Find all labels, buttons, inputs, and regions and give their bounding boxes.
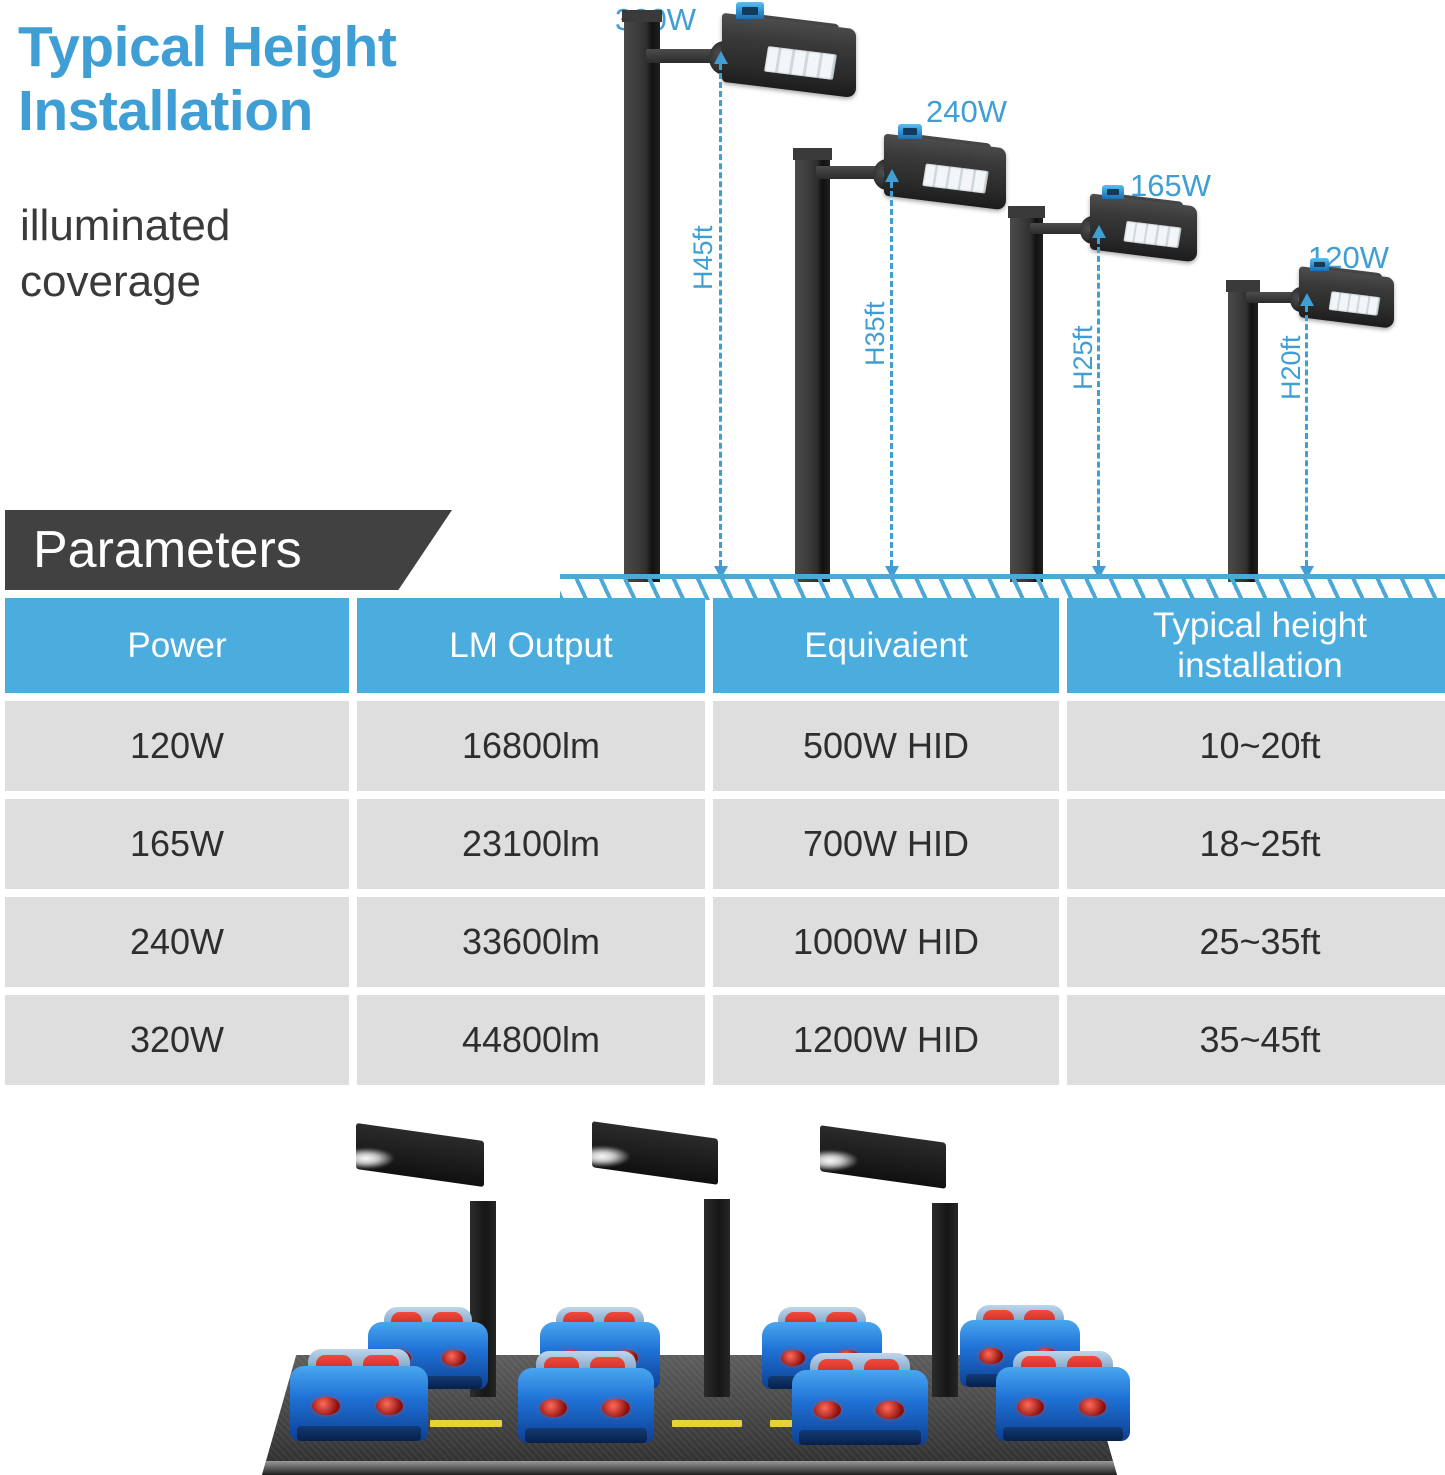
car-bumper [799, 1430, 921, 1445]
column-header-lm-output: LM Output [357, 598, 705, 693]
car-taillight [602, 1399, 629, 1417]
car-taillight [876, 1401, 903, 1419]
pole-240w [795, 154, 830, 582]
cell-equivaient: 500W HID [713, 701, 1059, 791]
cell-typical-height: 25~35ft [1067, 897, 1445, 987]
luminaire-120w [1246, 268, 1394, 332]
luminaire-320w [646, 16, 856, 102]
photocell-sensor-icon [736, 2, 763, 19]
cell-equivaient: 1000W HID [713, 897, 1059, 987]
car-taillight [312, 1397, 340, 1415]
infographic-page: Typical Height Installation illuminated … [0, 0, 1445, 1475]
car-taillight [1079, 1398, 1106, 1416]
ground-hatching [560, 579, 1445, 600]
column-header-typical-height-installation: Typical height installation [1067, 598, 1445, 693]
cell-power: 240W [5, 897, 349, 987]
cell-equivaient: 1200W HID [713, 995, 1059, 1085]
cell-power: 120W [5, 701, 349, 791]
lot-pole-3 [932, 1203, 958, 1397]
parking-stripe [672, 1420, 742, 1427]
parking-lot-scene [0, 1120, 1445, 1475]
subtitle-line-1: illuminated [20, 198, 440, 254]
car-bumper [525, 1428, 647, 1443]
pole-shaft [1010, 212, 1043, 582]
measure-line-h35ft [890, 182, 893, 566]
cell-lm-output: 16800lm [357, 701, 705, 791]
lot-luminaire-3 [820, 1134, 946, 1180]
photocell-sensor-icon [1102, 185, 1124, 199]
cell-equivaient: 700W HID [713, 799, 1059, 889]
luminaire-165w [1030, 196, 1197, 266]
parameters-banner: Parameters [5, 510, 452, 590]
page-title: Typical Height Installation [18, 16, 618, 144]
measure-line-h25ft [1097, 238, 1100, 566]
pole-shaft [795, 154, 830, 582]
cell-typical-height: 35~45ft [1067, 995, 1445, 1085]
pole-165w [1010, 212, 1043, 582]
table-row: 165W 23100lm 700W HID 18~25ft [5, 799, 1437, 889]
cell-lm-output: 44800lm [357, 995, 705, 1085]
car [996, 1351, 1130, 1441]
subtitle-line-2: coverage [20, 254, 440, 310]
cell-power: 320W [5, 995, 349, 1085]
height-label-h20ft: H20ft [1276, 335, 1307, 400]
light-glow [338, 1148, 394, 1169]
parameters-table: Power LM Output Equivaient Typical heigh… [5, 598, 1437, 1093]
cell-typical-height: 18~25ft [1067, 799, 1445, 889]
height-label-h35ft: H35ft [860, 301, 891, 366]
parameters-banner-label: Parameters [33, 520, 302, 580]
cell-lm-output: 23100lm [357, 799, 705, 889]
lot-luminaire-1 [356, 1132, 484, 1178]
watt-label-240w: 240W [926, 94, 1007, 130]
height-label-h25ft: H25ft [1068, 325, 1099, 390]
ground-line [560, 574, 1445, 600]
table-row: 120W 16800lm 500W HID 10~20ft [5, 701, 1437, 791]
column-header-power: Power [5, 598, 349, 693]
column-header-equivaient: Equivaient [713, 598, 1059, 693]
cell-typical-height: 10~20ft [1067, 701, 1445, 791]
height-label-h45ft: H45ft [688, 225, 719, 290]
measure-line-h45ft [719, 64, 722, 566]
height-installation-diagram: 320W H45ft 240W H35f [560, 0, 1445, 600]
lot-pole-2 [704, 1199, 730, 1397]
title-line-2: Installation [18, 80, 618, 144]
light-glow [802, 1150, 857, 1171]
table-header-row: Power LM Output Equivaient Typical heigh… [5, 598, 1437, 693]
cell-lm-output: 33600lm [357, 897, 705, 987]
luminaire-240w [816, 136, 1006, 214]
car [518, 1351, 654, 1443]
lot-luminaire-2 [592, 1130, 718, 1176]
car-bumper [1003, 1427, 1124, 1441]
car-bumper [297, 1426, 421, 1441]
table-row: 320W 44800lm 1200W HID 35~45ft [5, 995, 1437, 1085]
car [792, 1353, 928, 1445]
cell-power: 165W [5, 799, 349, 889]
light-glow [574, 1146, 629, 1167]
car-taillight [540, 1399, 567, 1417]
page-subtitle: illuminated coverage [20, 198, 440, 311]
photocell-sensor-icon [1310, 258, 1329, 271]
car-taillight [1017, 1398, 1044, 1416]
car-taillight [814, 1401, 841, 1419]
title-line-1: Typical Height [18, 16, 618, 80]
parking-stripe [430, 1420, 502, 1427]
slab-edge [262, 1461, 1117, 1475]
table-row: 240W 33600lm 1000W HID 25~35ft [5, 897, 1437, 987]
car [290, 1349, 428, 1441]
photocell-sensor-icon [898, 124, 923, 140]
